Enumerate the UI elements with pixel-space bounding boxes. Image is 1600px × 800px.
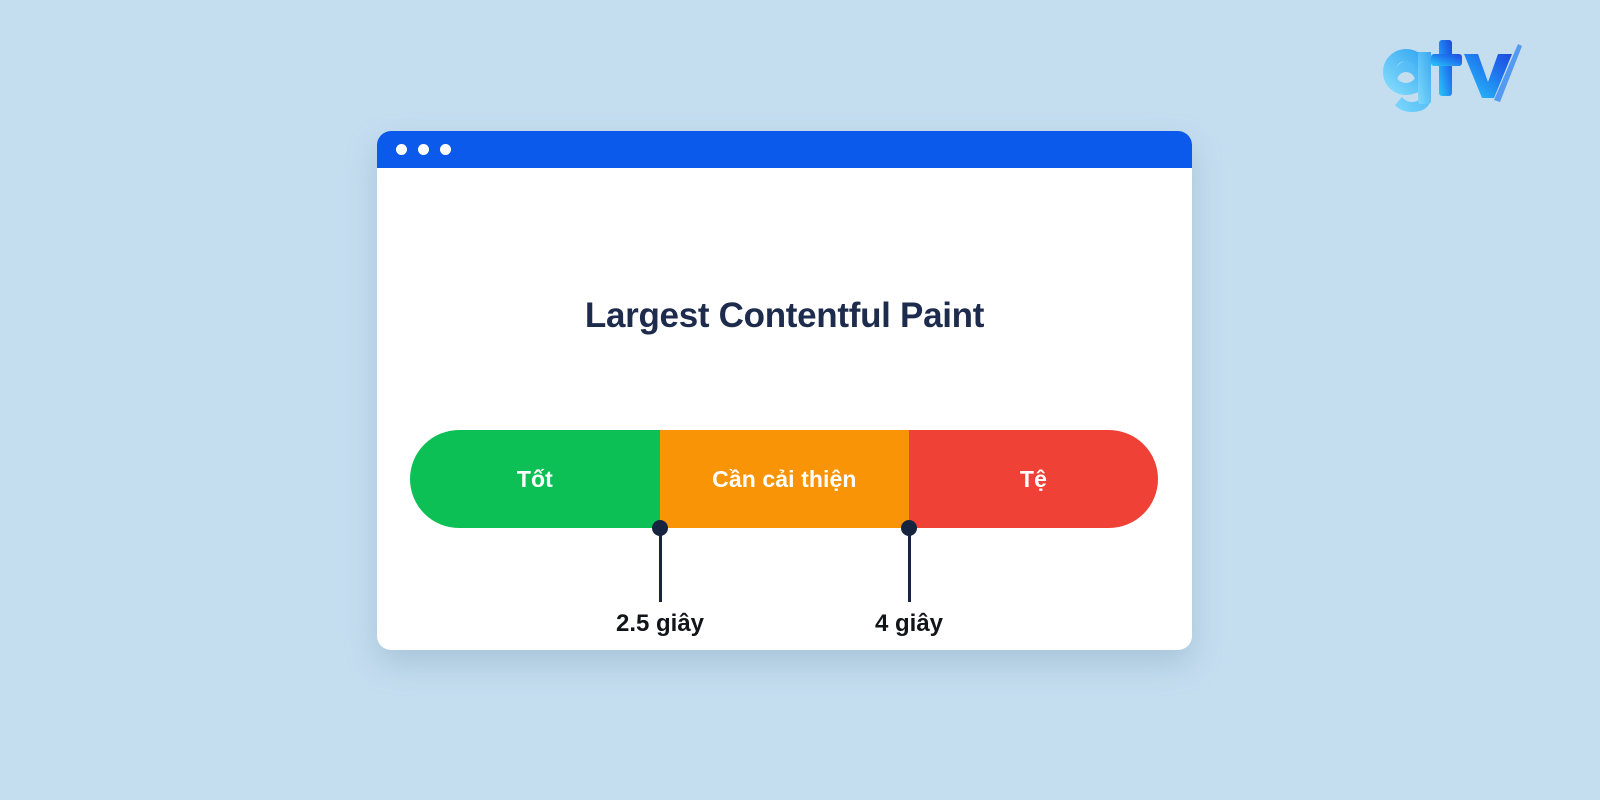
window-titlebar xyxy=(377,131,1192,168)
bar-segment-poor: Tệ xyxy=(909,430,1158,528)
threshold-label-2-5s: 2.5 giây xyxy=(616,610,704,638)
window-dot-maximize-icon[interactable] xyxy=(440,144,451,155)
threshold-line-icon xyxy=(908,528,911,602)
browser-window-card: Largest Contentful Paint Tốt Cần cải thi… xyxy=(377,131,1192,650)
threshold-label-4s: 4 giây xyxy=(875,610,943,638)
window-dot-minimize-icon[interactable] xyxy=(418,144,429,155)
bar-segment-needs-improvement: Cần cải thiện xyxy=(660,430,909,528)
page-title: Largest Contentful Paint xyxy=(377,168,1192,336)
lcp-threshold-bar: Tốt Cần cải thiện Tệ xyxy=(410,430,1158,528)
window-body: Largest Contentful Paint Tốt Cần cải thi… xyxy=(377,168,1192,650)
threshold-dot-icon xyxy=(652,520,668,536)
threshold-dot-icon xyxy=(901,520,917,536)
threshold-line-icon xyxy=(659,528,662,602)
gtv-logo xyxy=(1382,30,1522,112)
window-dot-close-icon[interactable] xyxy=(396,144,407,155)
bar-segment-good: Tốt xyxy=(410,430,660,528)
